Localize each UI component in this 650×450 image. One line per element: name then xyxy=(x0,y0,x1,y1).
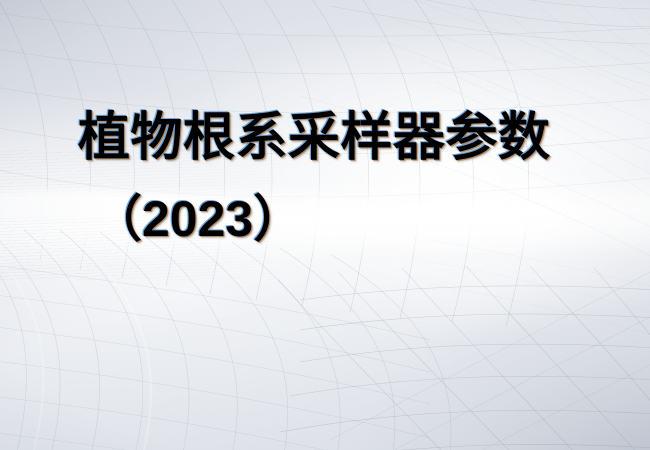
page-title-year: （2023） xyxy=(0,194,650,244)
title-slide: 植物根系采样器参数 （2023） xyxy=(0,0,650,450)
title-block: 植物根系采样器参数 （2023） xyxy=(0,112,650,244)
page-title: 植物根系采样器参数 xyxy=(0,112,650,164)
